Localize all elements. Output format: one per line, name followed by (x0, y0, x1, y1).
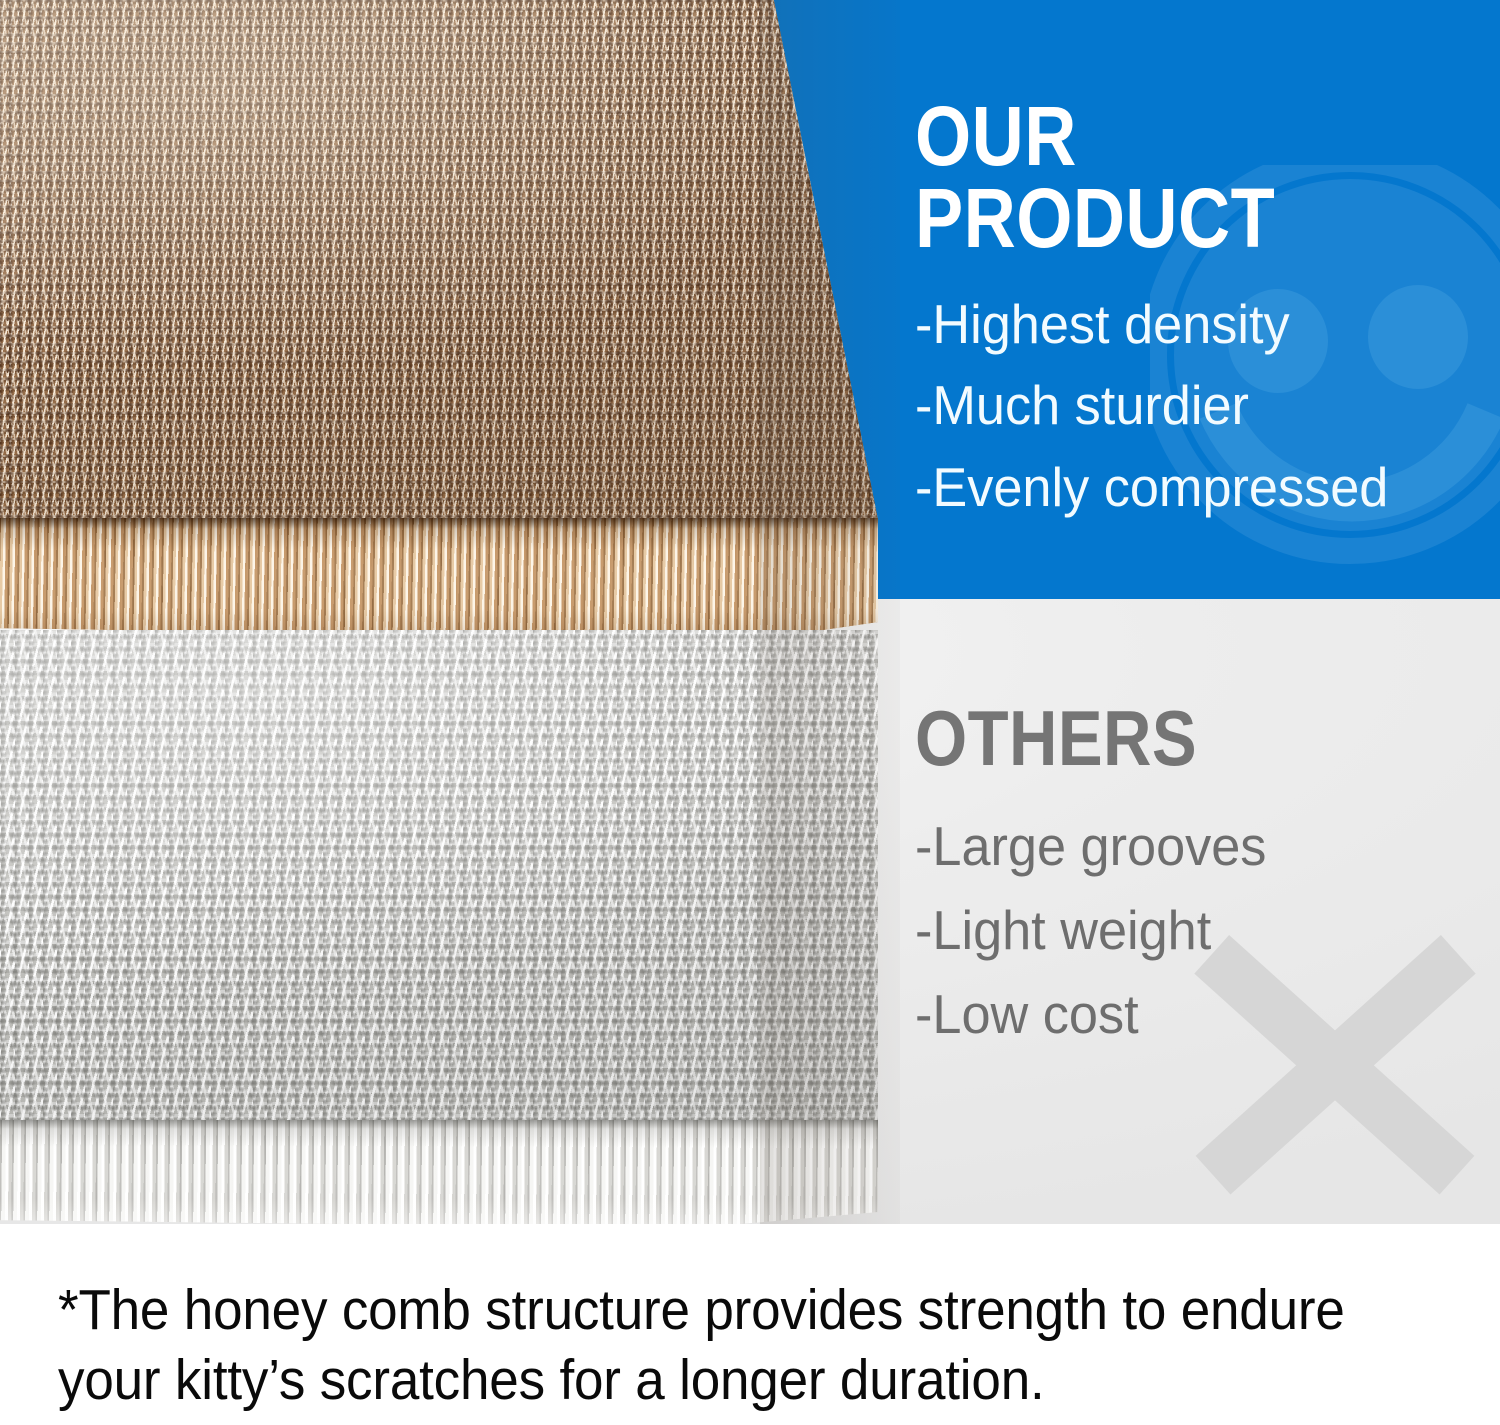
competitor-slab-edge-shadow (0, 1120, 894, 1232)
our-product-slab-edge-shadow (0, 518, 884, 640)
our-product-text-block: OUR PRODUCT -Highest density -Much sturd… (915, 95, 1485, 538)
our-product-bullet-3: -Evenly compressed (915, 457, 1457, 519)
others-bullet-3: -Low cost (915, 984, 1457, 1046)
brown-honeycomb-shading (0, 0, 884, 526)
others-bullet-1: -Large grooves (915, 816, 1457, 878)
caption-line-1: *The honey comb structure provides stren… (58, 1276, 1360, 1346)
competitor-honeycomb-cardboard-photo (0, 630, 894, 1130)
caption-line-2: your kitty’s scratches for a longer dura… (58, 1346, 1360, 1416)
our-product-bullet-1: -Highest density (915, 294, 1457, 356)
others-heading: OTHERS (915, 700, 1405, 776)
our-product-honeycomb-cardboard-photo (0, 0, 884, 526)
our-product-bullet-2: -Much sturdier (915, 375, 1457, 437)
others-bullet-2: -Light weight (915, 900, 1457, 962)
caption-text: *The honey comb structure provides stren… (58, 1276, 1360, 1415)
others-text-block: OTHERS -Large grooves -Light weight -Low… (915, 700, 1485, 1067)
product-photos (0, 0, 900, 1240)
white-honeycomb-shading (0, 630, 894, 1130)
our-product-heading: OUR PRODUCT (915, 95, 1405, 260)
product-comparison-infographic: OUR PRODUCT -Highest density -Much sturd… (0, 0, 1500, 1425)
caption-area: *The honey comb structure provides stren… (0, 1224, 1500, 1425)
